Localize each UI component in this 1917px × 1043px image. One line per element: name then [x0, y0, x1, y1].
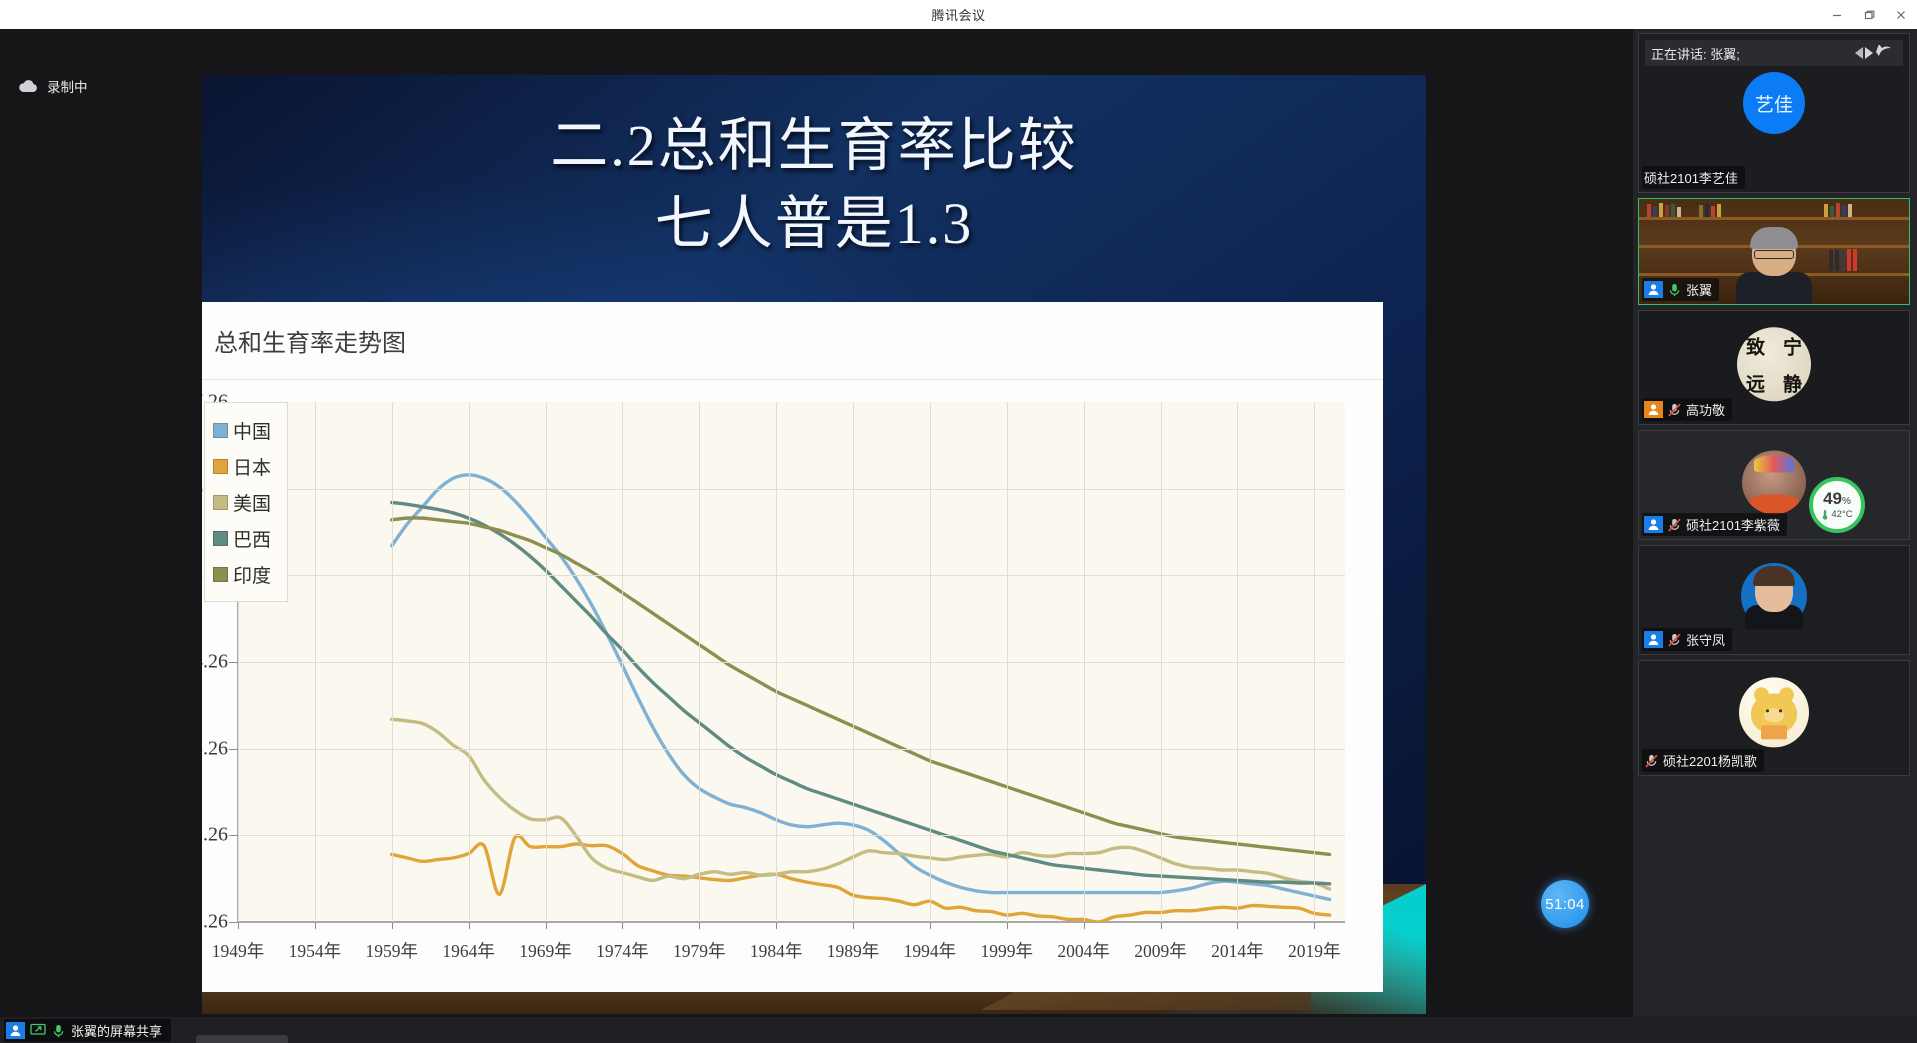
- recording-indicator: 录制中: [18, 76, 88, 96]
- participant-name: 硕社2201杨凯歌: [1663, 751, 1757, 770]
- battery-percent: 49%: [1823, 490, 1851, 507]
- avatar-body: [1748, 494, 1799, 514]
- legend-item-中国: 中国: [213, 412, 279, 448]
- x-gridline: [1007, 402, 1008, 922]
- slide-title-line-2: 七人普是1.3: [202, 185, 1426, 263]
- legend-swatch-icon: [213, 423, 228, 438]
- participant-name-bar: 张翼: [1642, 278, 1719, 301]
- x-axis-label: 1994年: [904, 938, 957, 963]
- y-axis-label: 2.26: [202, 824, 228, 847]
- chart-legend: 中国日本美国巴西印度: [204, 402, 288, 602]
- x-gridline: [930, 402, 931, 922]
- screen-share-icon: [30, 1023, 46, 1039]
- books-group-3: [1824, 203, 1852, 217]
- speaking-now-bar: 正在讲话: 张翼;: [1645, 40, 1903, 66]
- series-line-印度: [392, 518, 1330, 854]
- thermometer-icon: [1821, 509, 1829, 520]
- legend-label: 中国: [233, 417, 271, 444]
- x-axis-label: 1974年: [596, 938, 649, 963]
- y-axis-label: 3.26: [202, 737, 228, 760]
- self-share-label: 张翼的屏幕共享: [71, 1021, 162, 1040]
- mic-on-icon: [1667, 282, 1682, 298]
- y-axis-label: 4.26: [202, 651, 228, 674]
- y-gridline: [238, 835, 1345, 836]
- bookshelf-shelf-1: [1639, 217, 1909, 220]
- x-tick: [699, 922, 700, 929]
- calligraphy-char-3: 远: [1746, 369, 1765, 396]
- mic-muted-icon: [1667, 517, 1682, 533]
- participant-name-bar: 硕社2101李紫薇: [1642, 513, 1787, 536]
- calligraphy-char-2: 宁: [1783, 332, 1802, 359]
- window-controls: [1821, 0, 1917, 29]
- legend-label: 日本: [233, 453, 271, 480]
- y-tick: [229, 922, 238, 923]
- x-gridline: [1237, 402, 1238, 922]
- x-gridline: [622, 402, 623, 922]
- legend-label: 印度: [233, 561, 271, 588]
- y-gridline: [238, 749, 1345, 750]
- recording-label: 录制中: [47, 76, 88, 96]
- chart-card-header: 总和生育率走势图: [202, 302, 1383, 380]
- x-gridline: [1314, 402, 1315, 922]
- participant-tile-zhangyi[interactable]: 张翼: [1638, 198, 1910, 305]
- window-titlebar: 腾讯会议: [0, 0, 1917, 29]
- y-tick: [229, 835, 238, 836]
- x-axis-label: 2014年: [1211, 938, 1264, 963]
- x-axis-label: 1984年: [750, 938, 803, 963]
- chart-title: 总和生育率走势图: [214, 323, 406, 358]
- figure-torso: [1736, 272, 1812, 304]
- speaker-name: 硕社2101李艺佳: [1644, 168, 1738, 187]
- self-share-label-bar: 张翼的屏幕共享: [4, 1019, 171, 1042]
- minimize-button[interactable]: [1821, 0, 1853, 29]
- y-axis-label: 1.26: [202, 911, 228, 934]
- participant-badge-icon: [1644, 631, 1663, 648]
- x-gridline: [776, 402, 777, 922]
- x-tick: [238, 922, 239, 929]
- figure-glasses: [1754, 250, 1794, 259]
- x-tick: [930, 922, 931, 929]
- avatar-hat: [1754, 456, 1795, 473]
- battery-temperature: 42°C: [1821, 509, 1852, 520]
- participant-name-bar: 张守凤: [1642, 628, 1732, 651]
- x-axis-label: 1959年: [365, 938, 418, 963]
- calligraphy-char-1: 致: [1746, 332, 1765, 359]
- cloud-icon: [18, 80, 38, 93]
- x-gridline: [1161, 402, 1162, 922]
- x-tick: [1161, 922, 1162, 929]
- x-tick: [1007, 922, 1008, 929]
- participant-badge-icon: [1644, 516, 1663, 533]
- battery-percent-value: 49: [1823, 489, 1842, 508]
- x-axis-label: 1999年: [981, 938, 1034, 963]
- participant-badge-icon: [6, 1022, 25, 1039]
- shared-screen-area[interactable]: 录制中 二.2总和生育率比较 七人普是1.3 总和生育率走势图: [0, 29, 1633, 1017]
- slide-title-line-1: 二.2总和生育率比较: [550, 113, 1078, 178]
- legend-swatch-icon: [213, 531, 228, 546]
- presentation-slide: 二.2总和生育率比较 七人普是1.3 总和生育率走势图 1.262.263.26…: [202, 75, 1426, 1014]
- x-gridline: [853, 402, 854, 922]
- speaker-nav-arrows[interactable]: [1853, 45, 1897, 61]
- window-title: 腾讯会议: [931, 5, 985, 24]
- x-gridline: [546, 402, 547, 922]
- legend-item-日本: 日本: [213, 448, 279, 484]
- chart-card: 总和生育率走势图 1.262.263.264.265.266.267.26194…: [202, 302, 1383, 992]
- calligraphy-char-4: 静: [1783, 369, 1802, 396]
- legend-swatch-icon: [213, 495, 228, 510]
- legend-item-巴西: 巴西: [213, 520, 279, 556]
- x-gridline: [315, 402, 316, 922]
- x-tick: [1314, 922, 1315, 929]
- calligraphy-avatar: 致 宁 远 静: [1737, 327, 1811, 401]
- y-gridline: [238, 662, 1345, 663]
- x-axis-label: 2004年: [1057, 938, 1110, 963]
- y-gridline: [238, 489, 1345, 490]
- maximize-button[interactable]: [1853, 0, 1885, 29]
- x-axis-label: 1969年: [519, 938, 572, 963]
- battery-status-overlay: 49% 42°C: [1809, 477, 1865, 533]
- figure-hair: [1750, 227, 1798, 249]
- participant-name: 高功敬: [1686, 400, 1725, 419]
- participant-name-bar: 硕社2201杨凯歌: [1642, 749, 1764, 772]
- books-group-2: [1699, 203, 1721, 217]
- participant-badge-icon: [1644, 401, 1663, 418]
- x-tick: [315, 922, 316, 929]
- slide-title: 二.2总和生育率比较 七人普是1.3: [202, 107, 1426, 262]
- meeting-timer[interactable]: 51:04: [1541, 880, 1589, 928]
- speaker-avatar: 艺佳: [1743, 72, 1805, 134]
- taskbar-button[interactable]: [196, 1035, 288, 1043]
- x-tick: [853, 922, 854, 929]
- battery-percent-unit: %: [1842, 496, 1851, 507]
- y-gridline: [238, 575, 1345, 576]
- bear-eye-left: [1766, 710, 1769, 713]
- participant-name: 张守凤: [1686, 630, 1725, 649]
- bear-book: [1761, 725, 1787, 739]
- x-axis-label: 2019年: [1288, 938, 1341, 963]
- participant-name-bar: 高功敬: [1642, 398, 1732, 421]
- x-axis-label: 1979年: [673, 938, 726, 963]
- speaker-name-bar: 硕社2101李艺佳: [1642, 166, 1745, 189]
- participant-rail: 正在讲话: 张翼; 艺佳 硕社2101李艺佳: [1633, 29, 1917, 1017]
- active-speaker-tile[interactable]: 正在讲话: 张翼; 艺佳 硕社2101李艺佳: [1638, 33, 1910, 193]
- speaking-now-label: 正在讲话: 张翼;: [1651, 44, 1740, 63]
- legend-item-美国: 美国: [213, 484, 279, 520]
- close-button[interactable]: [1885, 0, 1917, 29]
- x-gridline: [1084, 402, 1085, 922]
- x-axis-label: 1954年: [289, 938, 342, 963]
- legend-item-印度: 印度: [213, 556, 279, 592]
- participant-tile-gaogongjing[interactable]: 致 宁 远 静 高功敬: [1638, 310, 1910, 425]
- temperature-value: 42°C: [1831, 509, 1852, 520]
- x-tick: [392, 922, 393, 929]
- x-axis-label: 1989年: [827, 938, 880, 963]
- tencent-meeting-window: 腾讯会议 录制中: [0, 0, 1917, 1043]
- legend-label: 美国: [233, 489, 271, 516]
- participant-avatar-portrait: [1741, 563, 1807, 629]
- mic-muted-icon: [1667, 402, 1682, 418]
- participant-name: 硕社2101李紫薇: [1686, 515, 1780, 534]
- mic-muted-icon: [1667, 632, 1682, 648]
- legend-swatch-icon: [213, 459, 228, 474]
- books-group-4: [1829, 249, 1857, 271]
- books-group-1: [1647, 203, 1681, 217]
- y-tick: [229, 662, 238, 663]
- series-line-美国: [392, 719, 1330, 889]
- meeting-body: 录制中 二.2总和生育率比较 七人普是1.3 总和生育率走势图: [0, 29, 1917, 1017]
- x-tick: [469, 922, 470, 929]
- chart-body: 1.262.263.264.265.266.267.261949年1954年19…: [202, 380, 1383, 992]
- x-axis-label: 1964年: [442, 938, 495, 963]
- x-tick: [1084, 922, 1085, 929]
- participant-badge-icon: [1644, 281, 1663, 298]
- participant-tile-lizwei[interactable]: 49% 42°C 硕社2101李紫薇: [1638, 430, 1910, 540]
- x-axis-label: 1949年: [212, 938, 265, 963]
- chart-plot-area: 1.262.263.264.265.266.267.261949年1954年19…: [238, 402, 1345, 922]
- x-tick: [622, 922, 623, 929]
- x-tick: [776, 922, 777, 929]
- mic-muted-icon: [1644, 753, 1659, 769]
- x-tick: [1237, 922, 1238, 929]
- y-tick: [229, 749, 238, 750]
- participant-avatar-bear: [1739, 677, 1809, 747]
- participant-tile-zhangshoufeng[interactable]: 张守凤: [1638, 545, 1910, 655]
- participant-video-figure: [1735, 230, 1813, 304]
- legend-label: 巴西: [233, 525, 271, 552]
- participant-name: 张翼: [1686, 280, 1712, 299]
- participant-avatar-photo: [1742, 450, 1806, 514]
- x-gridline: [469, 402, 470, 922]
- x-gridline: [699, 402, 700, 922]
- legend-swatch-icon: [213, 567, 228, 582]
- mic-on-icon: [51, 1023, 66, 1039]
- x-tick: [546, 922, 547, 929]
- x-axis-label: 2009年: [1134, 938, 1187, 963]
- x-gridline: [392, 402, 393, 922]
- participant-tile-yangkaige[interactable]: 硕社2201杨凯歌: [1638, 660, 1910, 776]
